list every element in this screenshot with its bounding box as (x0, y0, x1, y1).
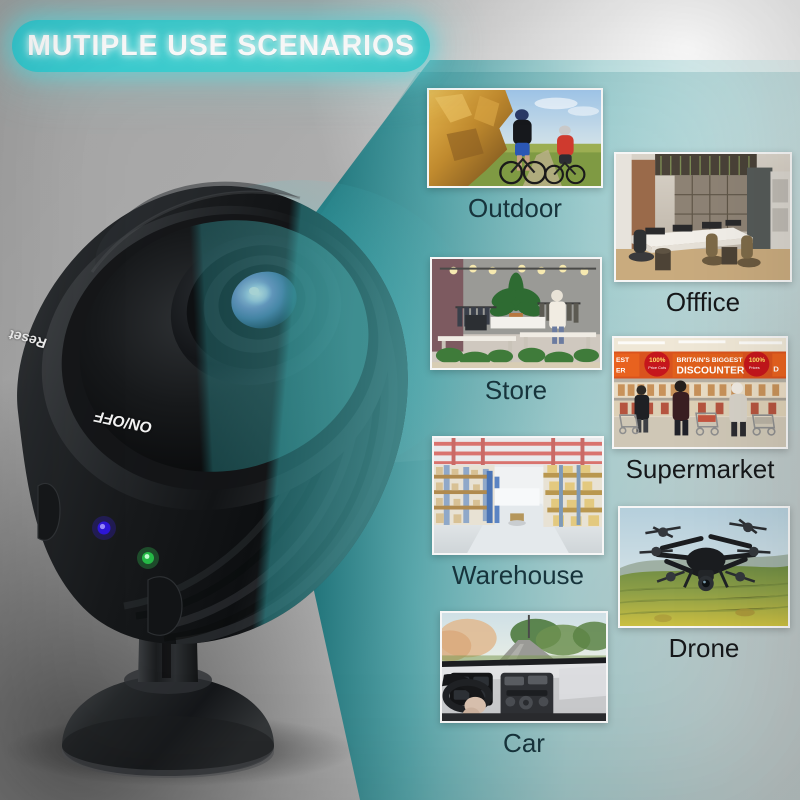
svg-text:Prices: Prices (749, 365, 760, 370)
svg-text:EST: EST (616, 357, 630, 364)
svg-text:D: D (773, 365, 779, 374)
scenario-outdoor[interactable]: Outdoor (427, 88, 603, 222)
scenario-car-label: Car (440, 730, 608, 757)
scenario-office-label: Offfice (614, 289, 792, 316)
title-banner: MUTIPLE USE SCENARIOS (12, 20, 430, 72)
scenario-warehouse-label: Warehouse (432, 562, 604, 589)
scenario-store[interactable]: Store (430, 257, 602, 404)
banner-title-text: MUTIPLE USE SCENARIOS (27, 30, 415, 63)
scenario-warehouse-thumbnail[interactable] (432, 436, 604, 555)
scenario-supermarket[interactable]: EST ER 100% Price Cuts BRITAIN'S BIGGEST… (612, 336, 788, 483)
product-scenario-poster: MUTIPLE USE SCENARIOS (0, 0, 800, 800)
svg-text:100%: 100% (649, 357, 666, 364)
svg-text:ER: ER (616, 368, 626, 375)
scenario-office[interactable]: Offfice (614, 152, 792, 316)
scenario-store-thumbnail[interactable] (430, 257, 602, 370)
scenario-drone-label: Drone (618, 635, 790, 662)
svg-text:DISCOUNTER: DISCOUNTER (677, 366, 745, 377)
mini-camera-product (0, 150, 440, 800)
scenario-warehouse[interactable]: Warehouse (432, 436, 604, 589)
scenario-outdoor-thumbnail[interactable] (427, 88, 603, 188)
scenario-office-thumbnail[interactable] (614, 152, 792, 282)
svg-text:100%: 100% (749, 357, 766, 364)
scenario-drone-thumbnail[interactable] (618, 506, 790, 628)
svg-text:Price Cuts: Price Cuts (648, 365, 666, 370)
scenario-outdoor-label: Outdoor (427, 195, 603, 222)
scenario-drone[interactable]: Drone (618, 506, 790, 662)
scenario-store-label: Store (430, 377, 602, 404)
scenario-car-thumbnail[interactable] (440, 611, 608, 723)
scenario-car[interactable]: Car (440, 611, 608, 757)
svg-text:BRITAIN'S BIGGEST: BRITAIN'S BIGGEST (677, 357, 744, 364)
scenario-supermarket-label: Supermarket (612, 456, 788, 483)
scenario-supermarket-thumbnail[interactable]: EST ER 100% Price Cuts BRITAIN'S BIGGEST… (612, 336, 788, 449)
